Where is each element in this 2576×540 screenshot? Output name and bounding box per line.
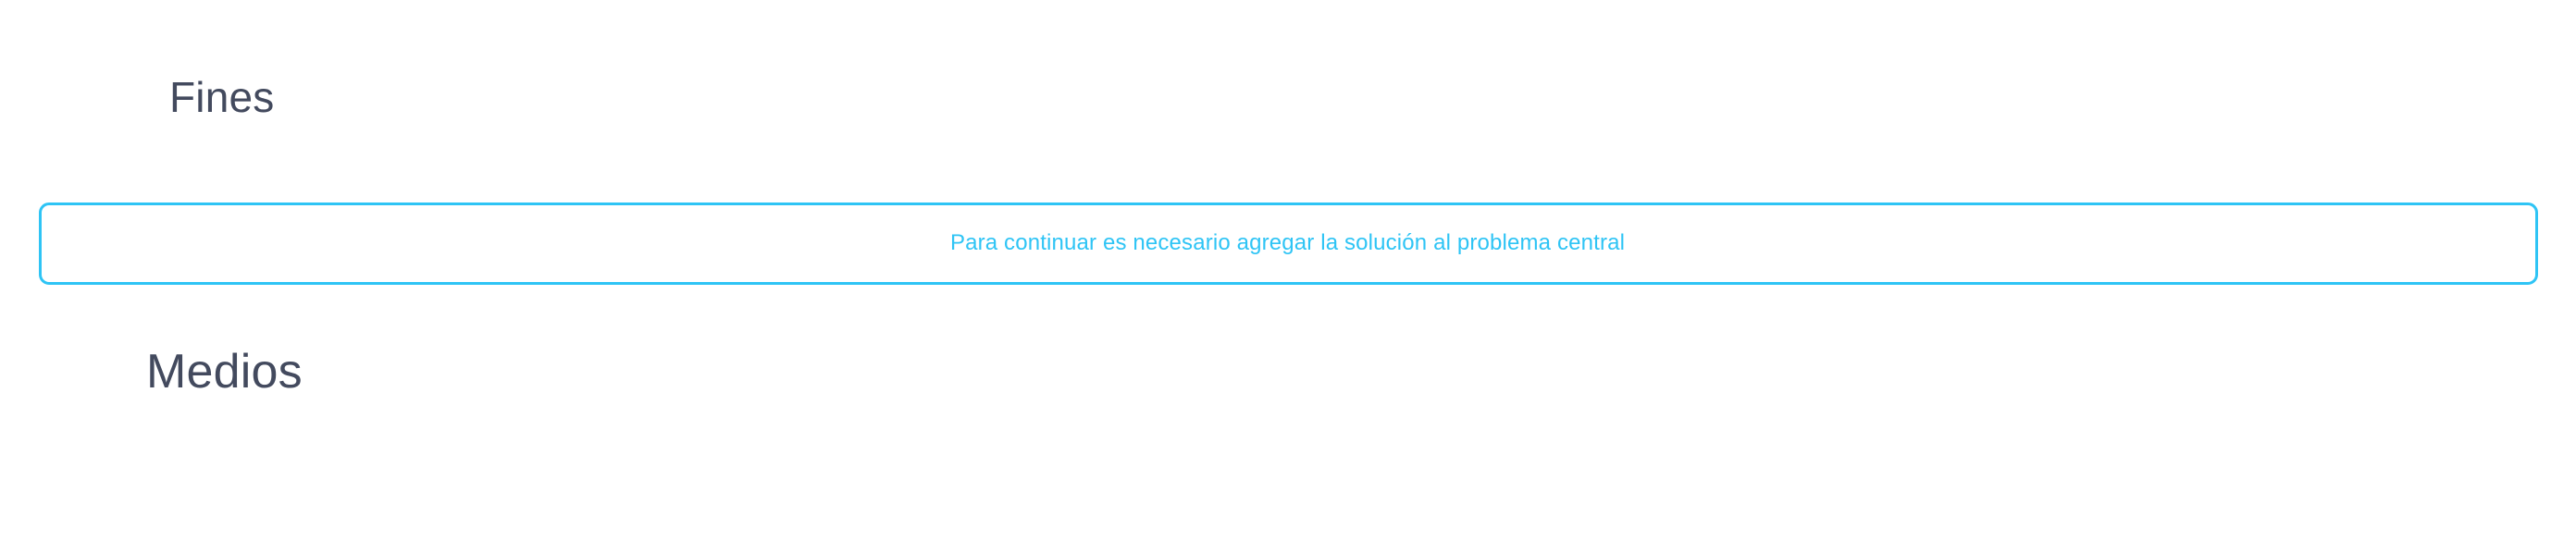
central-problem-notice: Para continuar es necesario agregar la s… — [39, 202, 2538, 285]
section-heading-medios: Medios — [146, 348, 303, 396]
central-problem-notice-message: Para continuar es necesario agregar la s… — [950, 230, 1625, 257]
medios-content-area — [39, 414, 2538, 540]
section-heading-fines: Fines — [169, 76, 274, 118]
page-root: Fines Para continuar es necesario agrega… — [0, 0, 2576, 540]
